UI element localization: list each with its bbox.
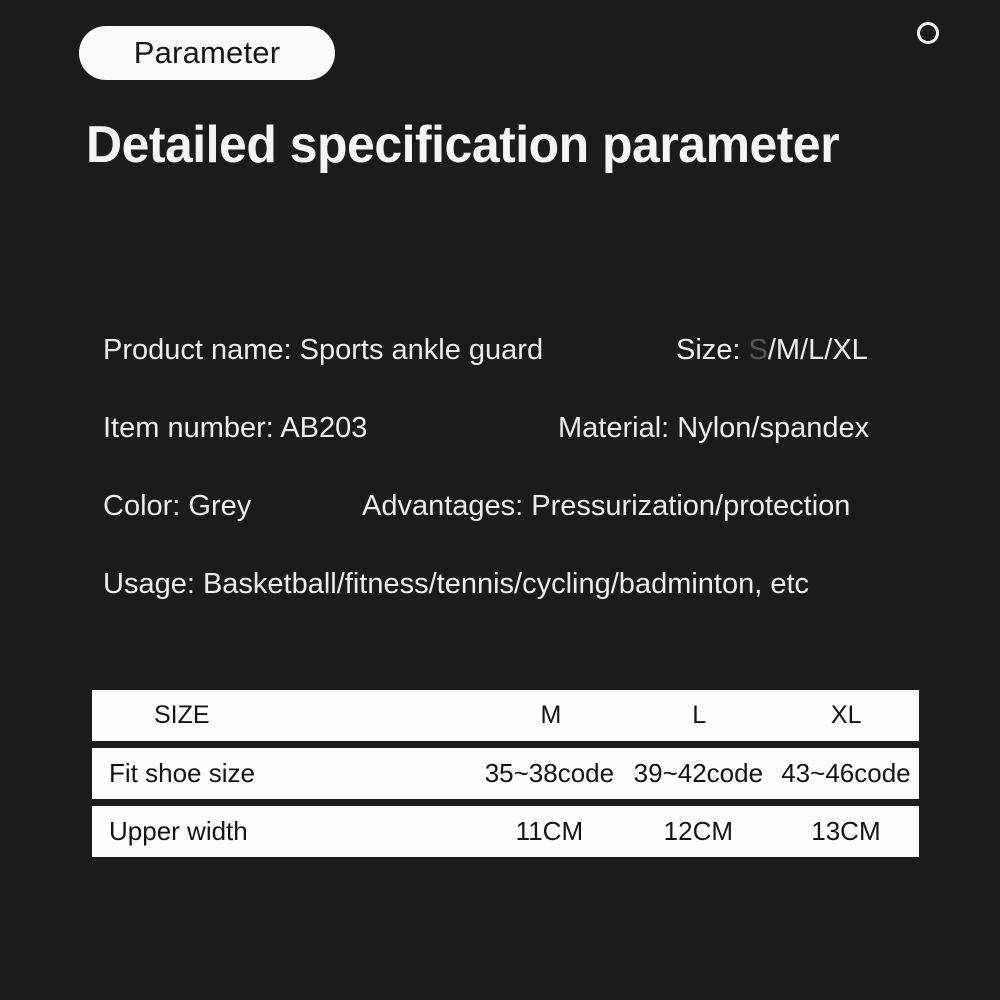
spec-row: Color: Grey Advantages: Pressurization/p…	[0, 486, 1000, 564]
screenshot-canvas: Parameter Detailed specification paramet…	[0, 0, 1000, 1000]
cell-fit-shoe-size-xl: 43~46code	[773, 758, 919, 789]
table-header-l: L	[625, 701, 773, 730]
spec-size: Size: S/M/L/XL	[676, 330, 868, 370]
spec-size-label: Size:	[676, 334, 749, 366]
row-label-upper-width: Upper width	[92, 816, 321, 847]
spec-material: Material: Nylon/spandex	[558, 408, 869, 448]
cell-fit-shoe-size-l: 39~42code	[624, 758, 773, 789]
size-table: SIZE M L XL Fit shoe size 35~38code 39~4…	[92, 690, 919, 857]
spec-row: Item number: AB203 Material: Nylon/spand…	[0, 408, 1000, 486]
parameter-badge-label: Parameter	[134, 35, 281, 71]
page-title: Detailed specification parameter	[86, 115, 912, 175]
cell-upper-width-m: 11CM	[475, 816, 624, 847]
cell-fit-shoe-size-m: 35~38code	[475, 758, 624, 789]
spec-advantages: Advantages: Pressurization/protection	[362, 486, 850, 526]
spec-size-value-faded: S	[749, 334, 768, 366]
panel-content: Parameter Detailed specification paramet…	[0, 0, 1000, 1000]
table-header-xl: XL	[773, 701, 919, 730]
row-label-fit-shoe-size: Fit shoe size	[92, 758, 321, 789]
cell-upper-width-xl: 13CM	[773, 816, 919, 847]
table-header-row: SIZE M L XL	[92, 690, 919, 741]
spec-row: Usage: Basketball/fitness/tennis/cycling…	[0, 564, 1000, 642]
parameter-badge: Parameter	[79, 26, 335, 80]
specification-list: Product name: Sports ankle guard Size: S…	[0, 330, 1000, 642]
table-row: Upper width 11CM 12CM 13CM	[92, 806, 919, 857]
spec-size-value: /M/L/XL	[768, 334, 868, 366]
spec-color: Color: Grey	[103, 486, 251, 526]
spec-row: Product name: Sports ankle guard Size: S…	[0, 330, 1000, 408]
spec-usage: Usage: Basketball/fitness/tennis/cycling…	[103, 564, 809, 604]
table-header-m: M	[477, 701, 625, 730]
cell-upper-width-l: 12CM	[624, 816, 773, 847]
spec-item-number: Item number: AB203	[103, 408, 367, 448]
spec-product-name: Product name: Sports ankle guard	[103, 330, 543, 370]
table-row: Fit shoe size 35~38code 39~42code 43~46c…	[92, 748, 919, 799]
circle-outline-icon	[917, 22, 939, 44]
table-header-size: SIZE	[92, 701, 324, 730]
